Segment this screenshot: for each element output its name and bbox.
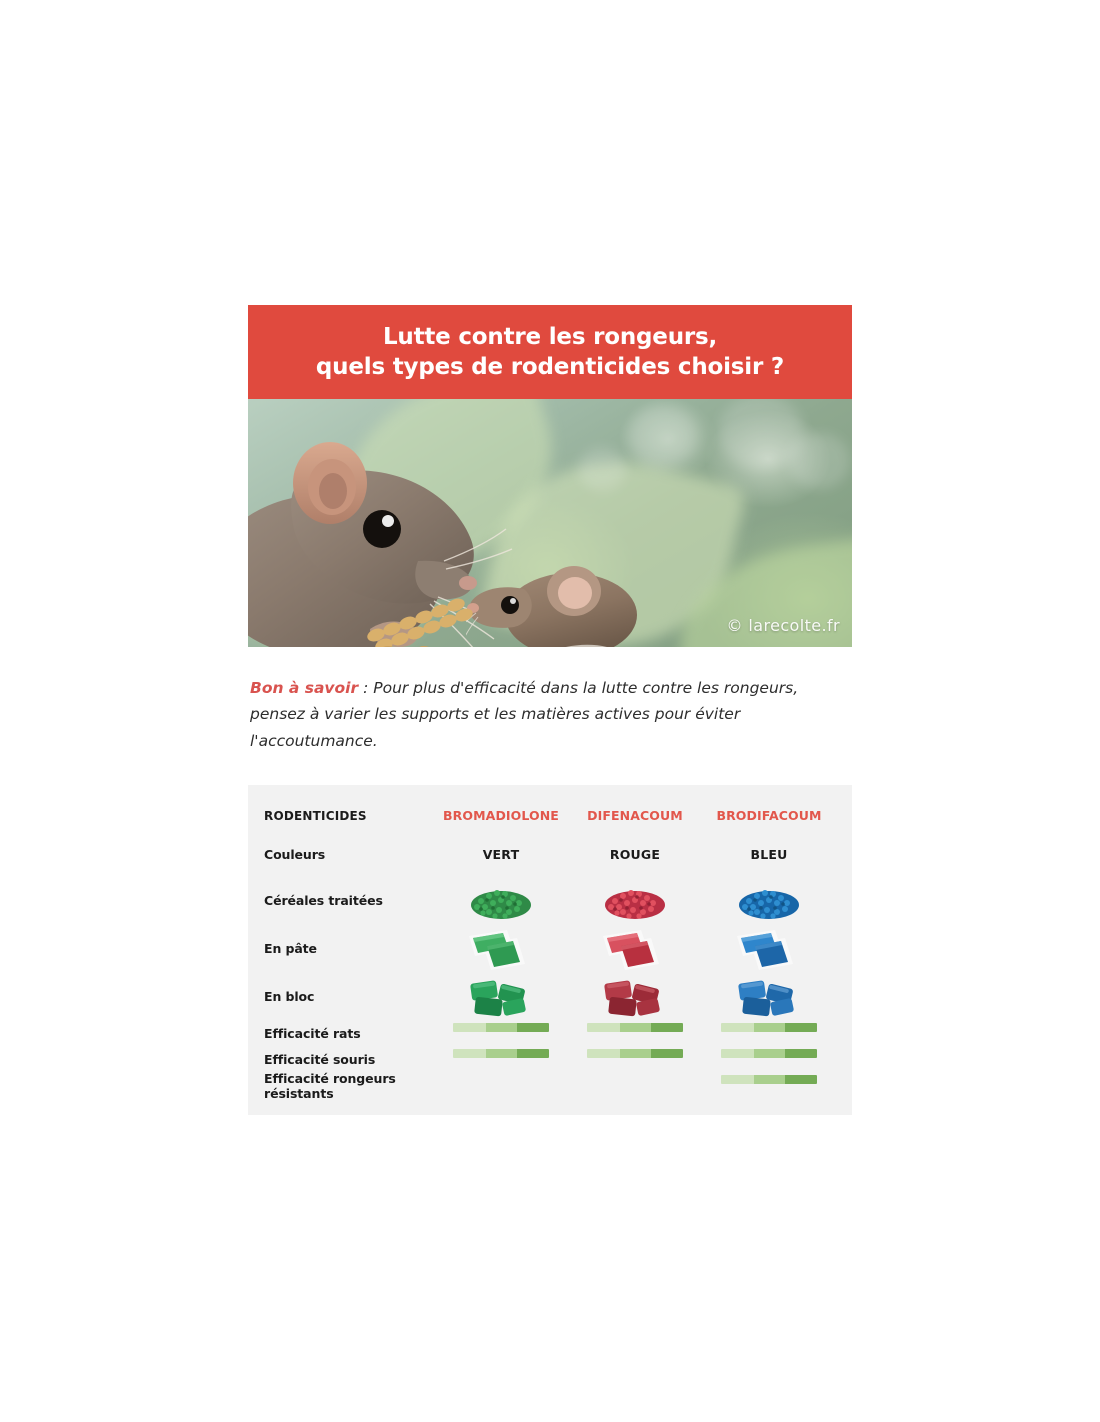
- rodenticides-comparison-table: RODENTICIDES BROMADIOLONE DIFENACOUM BRO…: [248, 785, 852, 1115]
- hero-photo: © larecolte.fr: [248, 399, 852, 647]
- row-label-efficacite-souris: Efficacité souris: [264, 1052, 434, 1067]
- banner-title-line-2: quels types de rodenticides choisir ?: [258, 353, 842, 383]
- efficacy-bar-rats-difenacoum: [568, 1021, 702, 1047]
- table-row-couleurs: Couleurs VERT ROUGE BLEU: [264, 833, 836, 877]
- photo-watermark: © larecolte.fr: [727, 616, 840, 635]
- block-bait-blue-icon: [702, 973, 836, 1021]
- color-value-difenacoum: ROUGE: [568, 846, 702, 864]
- cereal-pile-blue-icon: [702, 877, 836, 925]
- table-corner-label: RODENTICIDES: [264, 809, 434, 823]
- block-bait-green-icon: [434, 973, 568, 1021]
- table-row-bloc: En bloc: [264, 973, 836, 1021]
- tip-note-lead: Bon à savoir: [250, 679, 358, 697]
- table-row-cereales: Céréales traitées: [264, 877, 836, 925]
- banner-title-line-1: Lutte contre les rongeurs,: [258, 323, 842, 353]
- column-header-brodifacoum: BRODIFACOUM: [702, 807, 836, 825]
- efficacy-bar-rats-bromadiolone: [434, 1021, 568, 1047]
- efficacy-bar-resistants-brodifacoum: [702, 1073, 836, 1099]
- cereal-pile-green-icon: [434, 877, 568, 925]
- paste-sachet-blue-icon: [702, 925, 836, 973]
- efficacy-bar-rats-brodifacoum: [702, 1021, 836, 1047]
- table-row-efficacite-rats: Efficacité rats: [264, 1021, 836, 1047]
- efficacy-bar-souris-difenacoum: [568, 1047, 702, 1073]
- bokeh-icon: [578, 447, 626, 491]
- block-bait-red-icon: [568, 973, 702, 1021]
- row-label-cereales: Céréales traitées: [264, 893, 434, 908]
- efficacy-bar-souris-brodifacoum: [702, 1047, 836, 1073]
- grain-ear-illustration: [358, 577, 588, 647]
- cereal-pile-red-icon: [568, 877, 702, 925]
- title-banner: Lutte contre les rongeurs, quels types d…: [248, 305, 852, 399]
- table-row-efficacite-resistants: Efficacité rongeurs résistants: [264, 1073, 836, 1099]
- bokeh-icon: [628, 405, 698, 467]
- column-header-bromadiolone: BROMADIOLONE: [434, 807, 568, 825]
- tip-note: Bon à savoir : Pour plus d'efficacité da…: [248, 675, 852, 755]
- table-row-pate: En pâte: [264, 925, 836, 973]
- row-label-efficacite-resistants: Efficacité rongeurs résistants: [264, 1071, 434, 1101]
- color-value-brodifacoum: BLEU: [702, 846, 836, 864]
- paste-sachet-red-icon: [568, 925, 702, 973]
- color-value-bromadiolone: VERT: [434, 846, 568, 864]
- table-row-efficacite-souris: Efficacité souris: [264, 1047, 836, 1073]
- column-header-difenacoum: DIFENACOUM: [568, 807, 702, 825]
- row-label-couleurs: Couleurs: [264, 847, 434, 862]
- infographic-root: Lutte contre les rongeurs, quels types d…: [248, 305, 852, 1115]
- row-label-pate: En pâte: [264, 941, 434, 956]
- row-label-efficacite-rats: Efficacité rats: [264, 1026, 434, 1041]
- bokeh-icon: [788, 433, 850, 489]
- table-header-row: RODENTICIDES BROMADIOLONE DIFENACOUM BRO…: [264, 799, 836, 833]
- row-label-bloc: En bloc: [264, 989, 434, 1004]
- paste-sachet-green-icon: [434, 925, 568, 973]
- efficacy-bar-souris-bromadiolone: [434, 1047, 568, 1073]
